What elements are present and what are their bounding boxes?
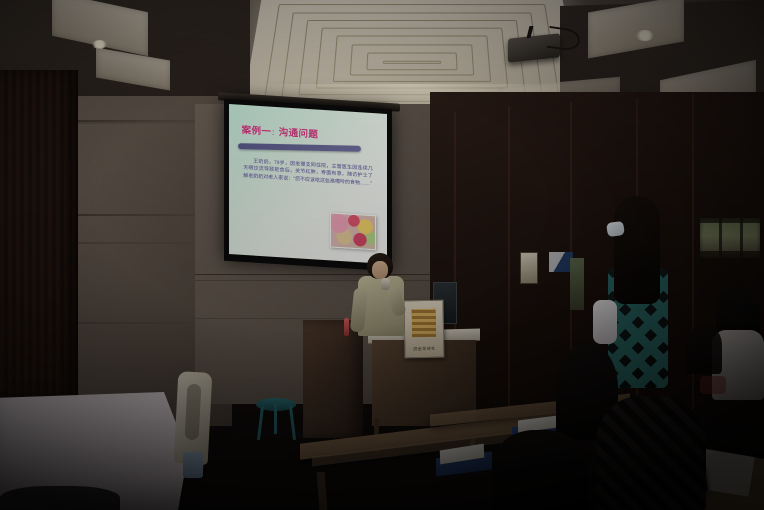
plaque-text: 进金龙诗社 [409,346,439,353]
slide-title-sep: ： [271,129,278,136]
face-mask-icon [606,221,625,237]
red-bag [700,376,726,394]
foreground-attendee-2 [492,430,588,510]
wall-poster [520,252,538,284]
slide-title-bar [238,143,361,152]
downlight-right-1 [636,30,654,41]
classroom-photo: 案例一：沟通问题 王奶奶，79岁，因老慢支同住院，主管医生因连续几天喂饮流导致拒… [0,0,764,510]
slide-title-sub: 沟通问题 [279,127,319,140]
slide-title-main: 案例一 [242,124,272,137]
slide-body-text: 王奶奶，79岁，因老慢支同住院，主管医生因连续几天喂饮流导致拒食后，关节红肿，寿… [243,157,373,188]
stool-leg-3 [274,404,277,434]
desk-leg-1 [317,472,328,510]
foreground-attendee-3 [596,396,706,510]
water-bottle [344,318,349,336]
window-secondary [570,258,584,310]
window [700,218,760,258]
bed-side-clip [183,452,203,478]
seated-attendee-mid [686,326,722,374]
presenter-face [372,261,388,279]
standing-woman-sleeve [593,300,617,344]
stool-leg-1 [257,406,264,440]
wooden-cabinet [303,320,363,438]
podium-plaque: 进金龙诗社 [403,300,444,359]
stool-leg-2 [289,406,296,440]
handheld-microphone [381,278,390,290]
slide-content: 案例一：沟通问题 王奶奶，79岁，因老慢支同住院，主管医生因连续几天喂饮流导致拒… [229,104,387,264]
bed-footboard-inner [185,384,202,441]
projection-screen: 案例一：沟通问题 王奶奶，79岁，因老慢支同住院，主管医生因连续几天喂饮流导致拒… [224,99,392,272]
seal-script-icon [412,309,436,337]
slide-title: 案例一：沟通问题 [242,121,319,140]
left-wood-paneling [0,70,78,400]
foreground-shadow [0,486,120,510]
slide-photo [330,212,376,250]
standing-woman-hair [614,196,660,304]
